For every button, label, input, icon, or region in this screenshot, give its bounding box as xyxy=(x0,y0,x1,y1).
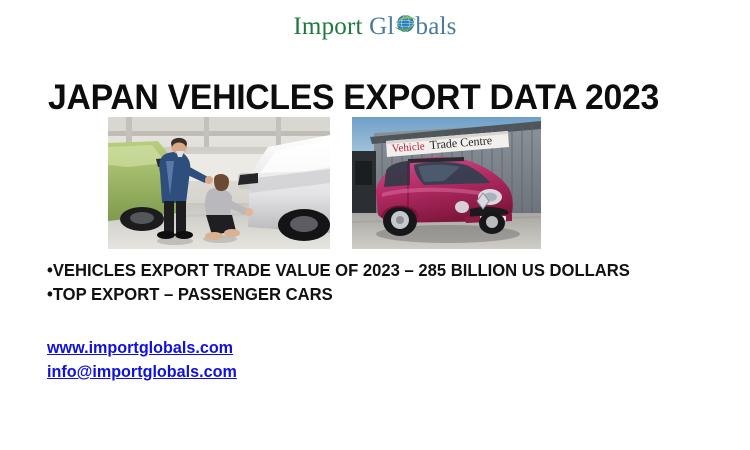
logo-text-import: Import xyxy=(293,13,362,40)
slide-canvas: Import Gl bals JAPAN VEHICLES EXPORT DAT… xyxy=(0,0,750,450)
bullet-item-trade-value: •VEHICLES EXPORT TRADE VALUE OF 2023 – 2… xyxy=(47,258,630,282)
globe-icon xyxy=(394,12,417,35)
brand-logo[interactable]: Import Gl bals xyxy=(0,12,750,41)
car-dealership-photo xyxy=(108,117,330,249)
page-title: JAPAN VEHICLES EXPORT DATA 2023 xyxy=(48,78,659,118)
bullet-item-top-export: •TOP EXPORT – PASSENGER CARS xyxy=(47,282,630,306)
logo-text-globals-suffix: bals xyxy=(416,13,457,40)
email-link[interactable]: info@importglobals.com xyxy=(47,360,237,384)
contact-block: www.importglobals.com info@importglobals… xyxy=(47,336,237,384)
used-car-photo: Vehicle Trade Centre xyxy=(352,117,541,249)
website-link[interactable]: www.importglobals.com xyxy=(47,336,233,360)
logo-text-globals-prefix: Gl xyxy=(369,13,394,40)
bullet-list: •VEHICLES EXPORT TRADE VALUE OF 2023 – 2… xyxy=(47,258,630,306)
